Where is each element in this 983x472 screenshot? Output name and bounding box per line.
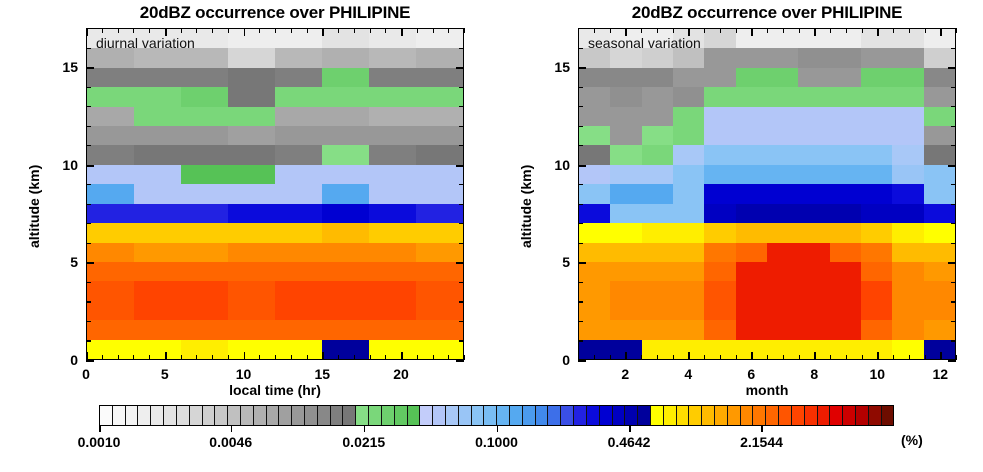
colorbar-swatch [548,406,561,425]
colorbar-swatch [574,406,587,425]
colorbar-swatch [177,406,190,425]
colorbar-swatch [228,406,241,425]
colorbar-swatch [369,406,382,425]
colorbar-tick [497,426,499,432]
colorbar-swatch [484,406,497,425]
colorbar-swatch [113,406,126,425]
colorbar-swatch [702,406,715,425]
colorbar-swatch [869,406,882,425]
colorbar-tick [364,426,366,432]
colorbar-swatch [267,406,280,425]
colorbar-swatch [331,406,344,425]
colorbar-swatch [510,406,523,425]
colorbar-swatch [138,406,151,425]
colorbar-swatch [561,406,574,425]
colorbar-swatch [766,406,779,425]
colorbar-swatch [279,406,292,425]
colorbar-swatch [305,406,318,425]
colorbar-swatch [343,406,356,425]
colorbar-swatch [651,406,664,425]
colorbar-swatch [830,406,843,425]
colorbar-tick [231,426,233,432]
colorbar-swatch [151,406,164,425]
colorbar-swatch [446,406,459,425]
colorbar-swatch [613,406,626,425]
colorbar-swatch [497,406,510,425]
colorbar-swatch [536,406,549,425]
colorbar-swatch [689,406,702,425]
colorbar-swatch [190,406,203,425]
colorbar-swatch [664,406,677,425]
colorbar-unit-label: (%) [901,432,923,448]
colorbar-swatch [818,406,831,425]
colorbar-tick-label: 0.0046 [209,434,252,450]
colorbar-swatch [254,406,267,425]
colorbar-swatch [805,406,818,425]
colorbar-swatch [241,406,254,425]
colorbar-tick [761,426,763,432]
colorbar-swatch [100,406,113,425]
colorbar-swatch [420,406,433,425]
colorbar-swatch [715,406,728,425]
colorbar-swatch [433,406,446,425]
colorbar-swatch [856,406,869,425]
colorbar-tick-label: 0.0010 [78,434,121,450]
colorbar: 0.00100.00460.02150.10000.46422.1544 (%) [0,0,983,472]
colorbar-swatch [753,406,766,425]
annotation-seasonal: seasonal variation [588,35,701,51]
colorbar-swatch [728,406,741,425]
annotation-diurnal: diurnal variation [96,35,195,51]
colorbar-swatch [600,406,613,425]
colorbar-tick-label: 0.4642 [608,434,651,450]
colorbar-swatch [677,406,690,425]
colorbar-swatch [779,406,792,425]
colorbar-swatch [203,406,216,425]
colorbar-gradient[interactable] [99,405,894,426]
colorbar-swatch [882,406,894,425]
colorbar-swatch [638,406,651,425]
colorbar-swatch [792,406,805,425]
colorbar-swatch [843,406,856,425]
colorbar-tick-label: 2.1544 [740,434,783,450]
colorbar-tick-label: 0.1000 [475,434,518,450]
colorbar-swatch [215,406,228,425]
colorbar-swatch [408,406,421,425]
colorbar-swatch [382,406,395,425]
colorbar-swatch [459,406,472,425]
colorbar-swatch [741,406,754,425]
colorbar-swatch [523,406,536,425]
colorbar-tick [99,426,101,432]
colorbar-swatch [395,406,408,425]
colorbar-swatch [625,406,638,425]
colorbar-swatch [164,406,177,425]
colorbar-swatch [126,406,139,425]
colorbar-swatch [472,406,485,425]
colorbar-tick-label: 0.0215 [342,434,385,450]
colorbar-swatch [587,406,600,425]
colorbar-swatch [292,406,305,425]
colorbar-swatch [318,406,331,425]
colorbar-tick [629,426,631,432]
colorbar-swatch [356,406,369,425]
